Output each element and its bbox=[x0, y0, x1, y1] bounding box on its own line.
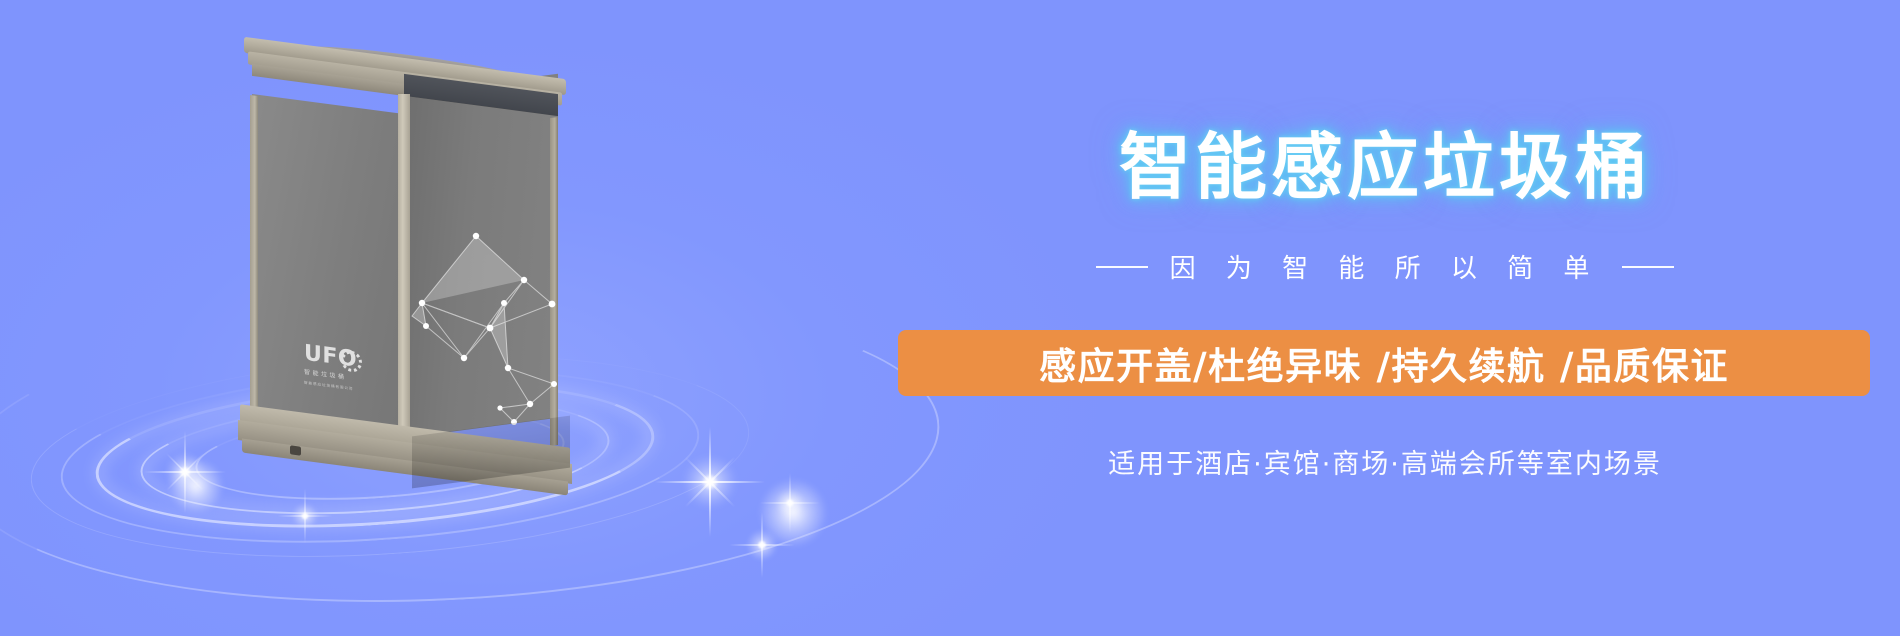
bin-corner-pillar bbox=[398, 94, 410, 450]
feature-ribbon-text: 感应开盖/杜绝异味 /持久续航 /品质保证 bbox=[1039, 336, 1729, 390]
feature-ribbon: 感应开盖/杜绝异味 /持久续航 /品质保证 bbox=[898, 330, 1870, 396]
product-promo-banner: UFO 智能垃圾桶 智能感应垃圾桶有限公司 智能感应垃圾桶 因 为 智 bbox=[0, 0, 1900, 636]
tagline-row: 因 为 智 能 所 以 简 单 bbox=[880, 248, 1890, 285]
sensor-port-icon bbox=[290, 445, 301, 455]
use-case-footnote: 适用于酒店·宾馆·商场·高端会所等室内场景 bbox=[880, 442, 1890, 481]
marketing-copy-block: 智能感应垃圾桶 因 为 智 能 所 以 简 单 感应开盖/杜绝异味 /持久续航 … bbox=[880, 0, 1890, 636]
headline-title: 智能感应垃圾桶 bbox=[880, 128, 1890, 206]
dash-left bbox=[1096, 266, 1148, 268]
tagline-text: 因 为 智 能 所 以 简 单 bbox=[1170, 248, 1601, 285]
ufo-brand-logo: UFO 智能垃圾桶 智能感应垃圾桶有限公司 bbox=[304, 343, 386, 410]
bin-face-right bbox=[404, 74, 558, 438]
smart-trash-bin-product-image: UFO 智能垃圾桶 智能感应垃圾桶有限公司 bbox=[252, 58, 562, 478]
bin-edge-right bbox=[550, 117, 558, 446]
bin-edge-left bbox=[250, 95, 258, 446]
product-scene: UFO 智能垃圾桶 智能感应垃圾桶有限公司 bbox=[0, 0, 860, 636]
dash-right bbox=[1622, 266, 1674, 268]
